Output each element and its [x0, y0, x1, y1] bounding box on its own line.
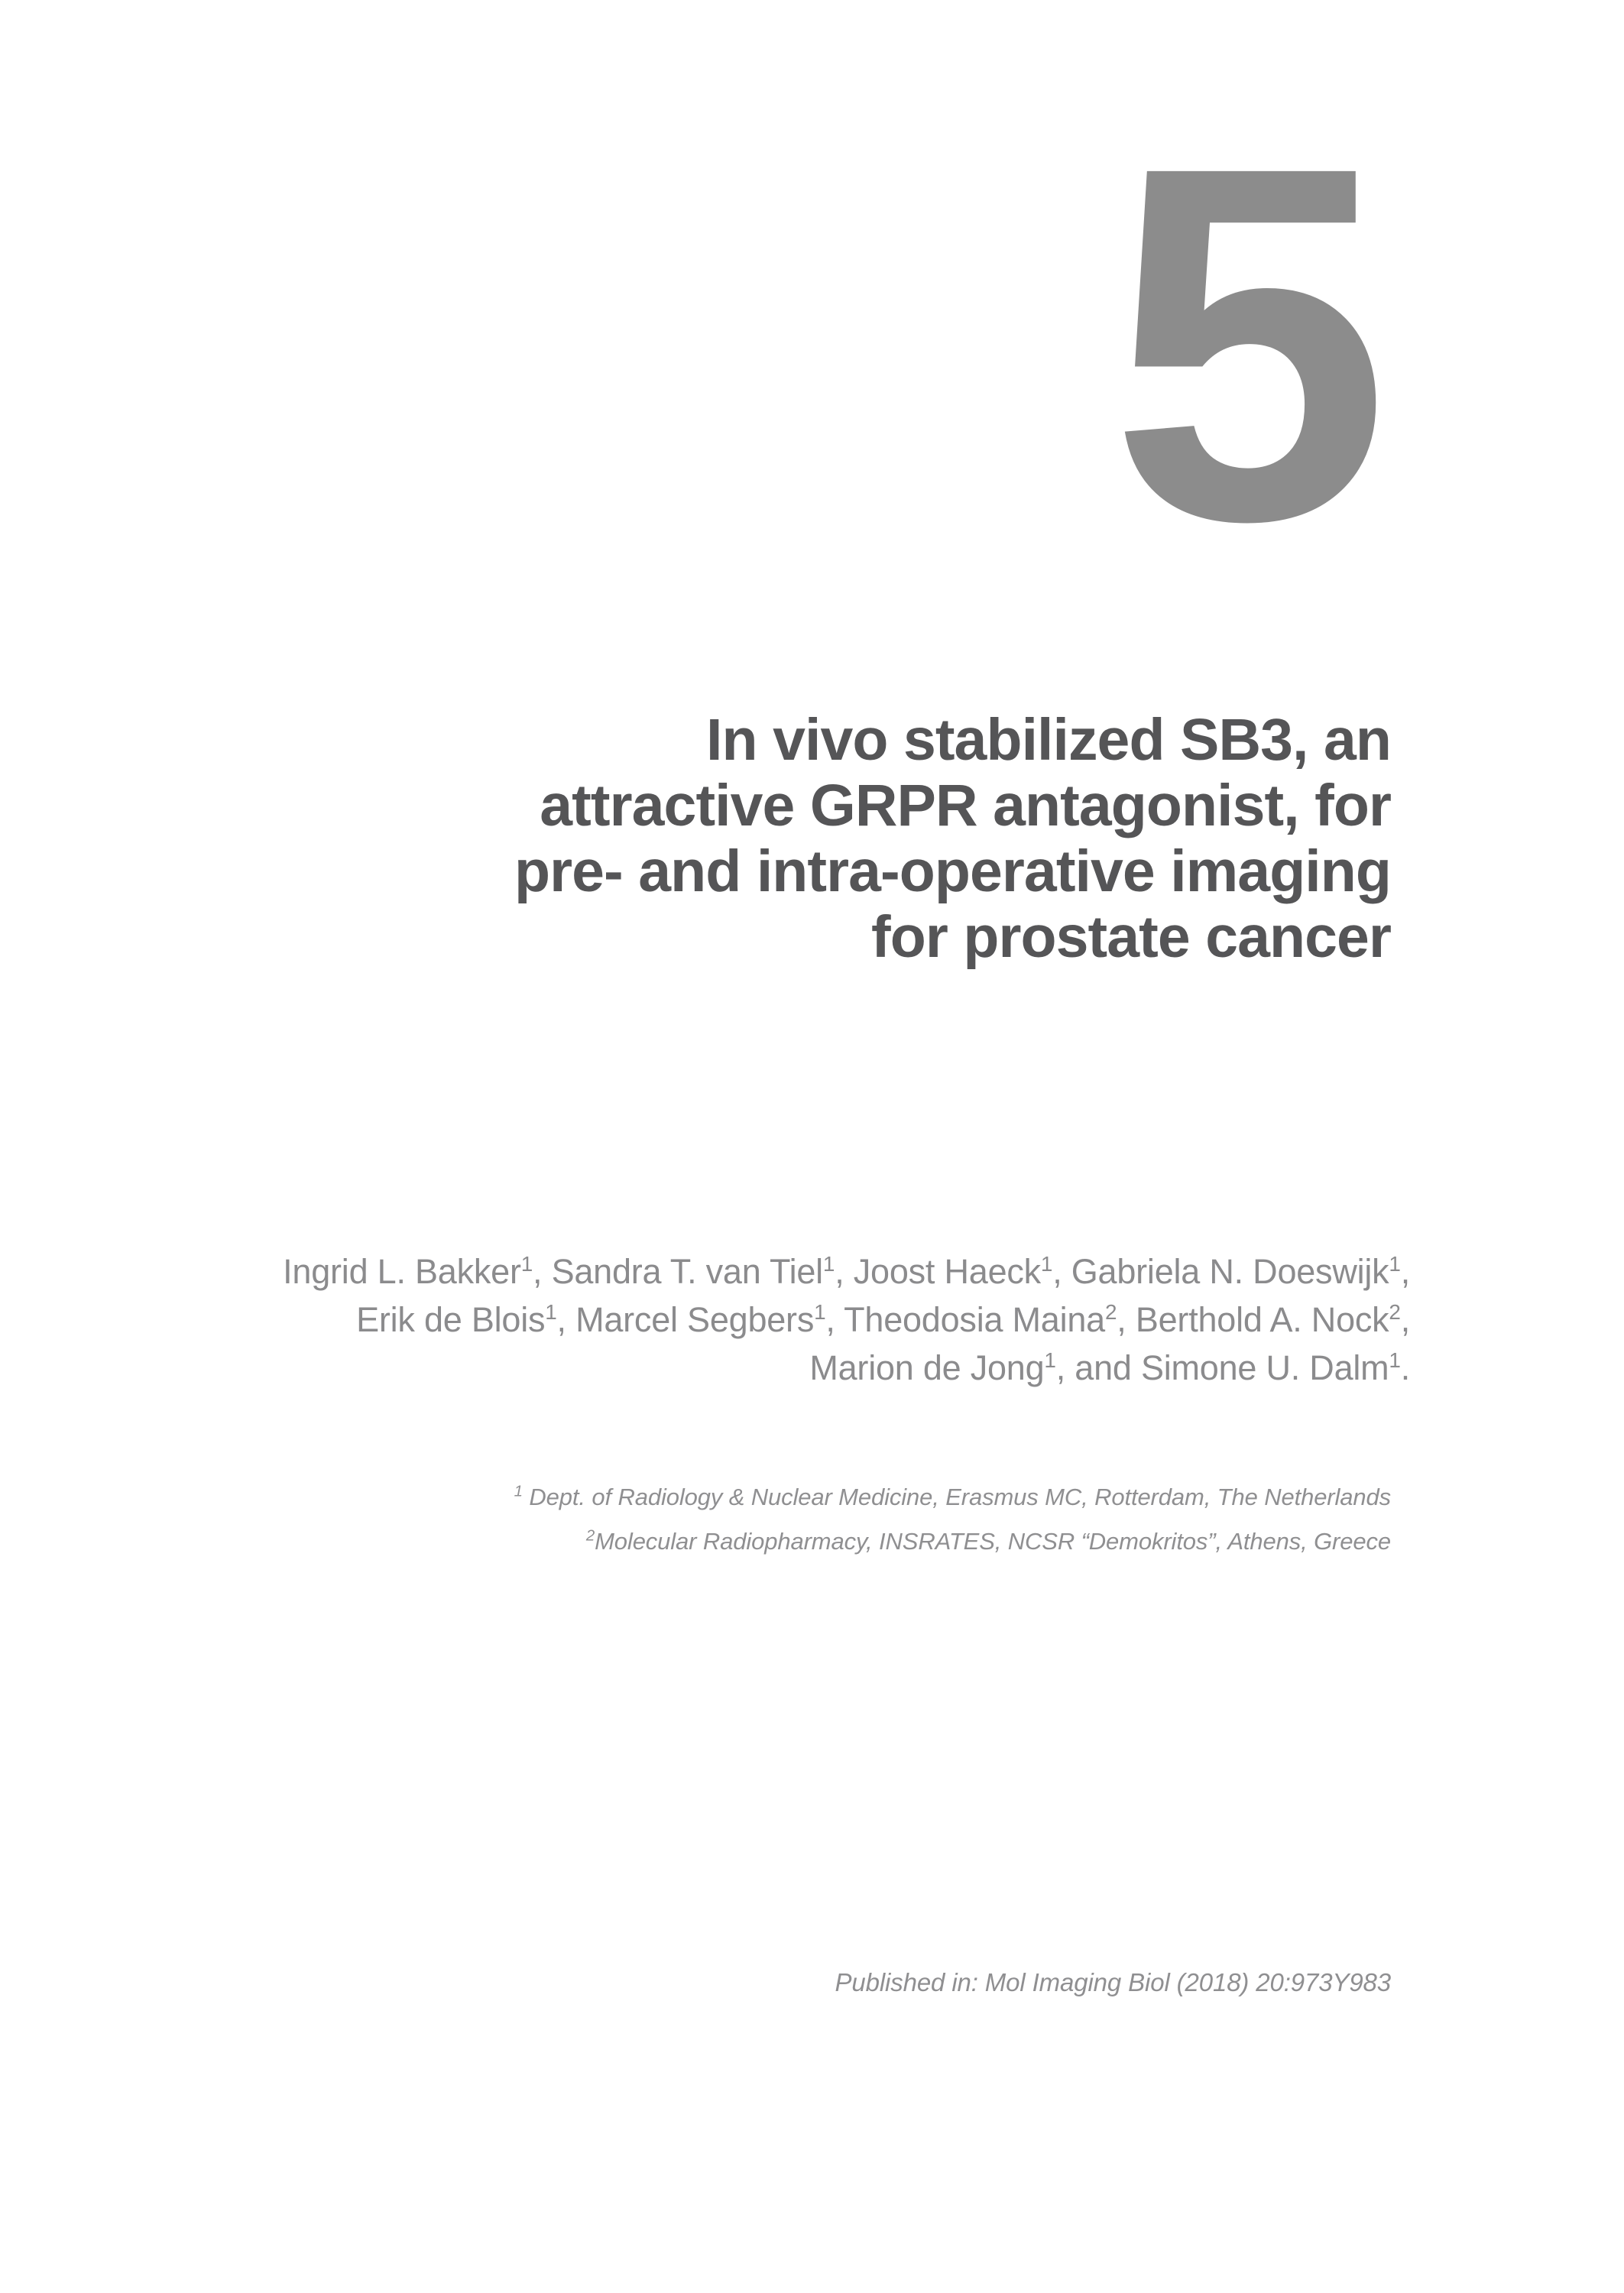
- affiliation-2: 2Molecular Radiopharmacy, INSRATES, NCSR…: [229, 1519, 1391, 1564]
- title-line-4: for prostate cancer: [229, 904, 1391, 970]
- author-line-3: Marion de Jong1, and Simone U. Dalm1.: [168, 1344, 1410, 1392]
- page-title: In vivo stabilized SB3, an attractive GR…: [229, 707, 1391, 970]
- title-line-3: pre- and intra-operative imaging: [229, 838, 1391, 904]
- affiliation-list: 1 Dept. of Radiology & Nuclear Medicine,…: [229, 1475, 1391, 1564]
- title-line-2: attractive GRPR antagonist, for: [229, 773, 1391, 838]
- affiliation-1: 1 Dept. of Radiology & Nuclear Medicine,…: [229, 1475, 1391, 1519]
- author-line-1: Ingrid L. Bakker1, Sandra T. van Tiel1, …: [168, 1247, 1410, 1296]
- published-in-text: Published in: Mol Imaging Biol (2018) 20…: [229, 1966, 1391, 1999]
- author-list: Ingrid L. Bakker1, Sandra T. van Tiel1, …: [168, 1247, 1410, 1392]
- title-line-1: In vivo stabilized SB3, an: [229, 707, 1391, 773]
- publication-note: Published in: Mol Imaging Biol (2018) 20…: [229, 1966, 1391, 1999]
- chapter-number: 5: [0, 92, 1385, 596]
- author-line-2: Erik de Blois1, Marcel Segbers1, Theodos…: [168, 1296, 1410, 1344]
- chapter-title-page: 5 In vivo stabilized SB3, an attractive …: [0, 0, 1624, 2293]
